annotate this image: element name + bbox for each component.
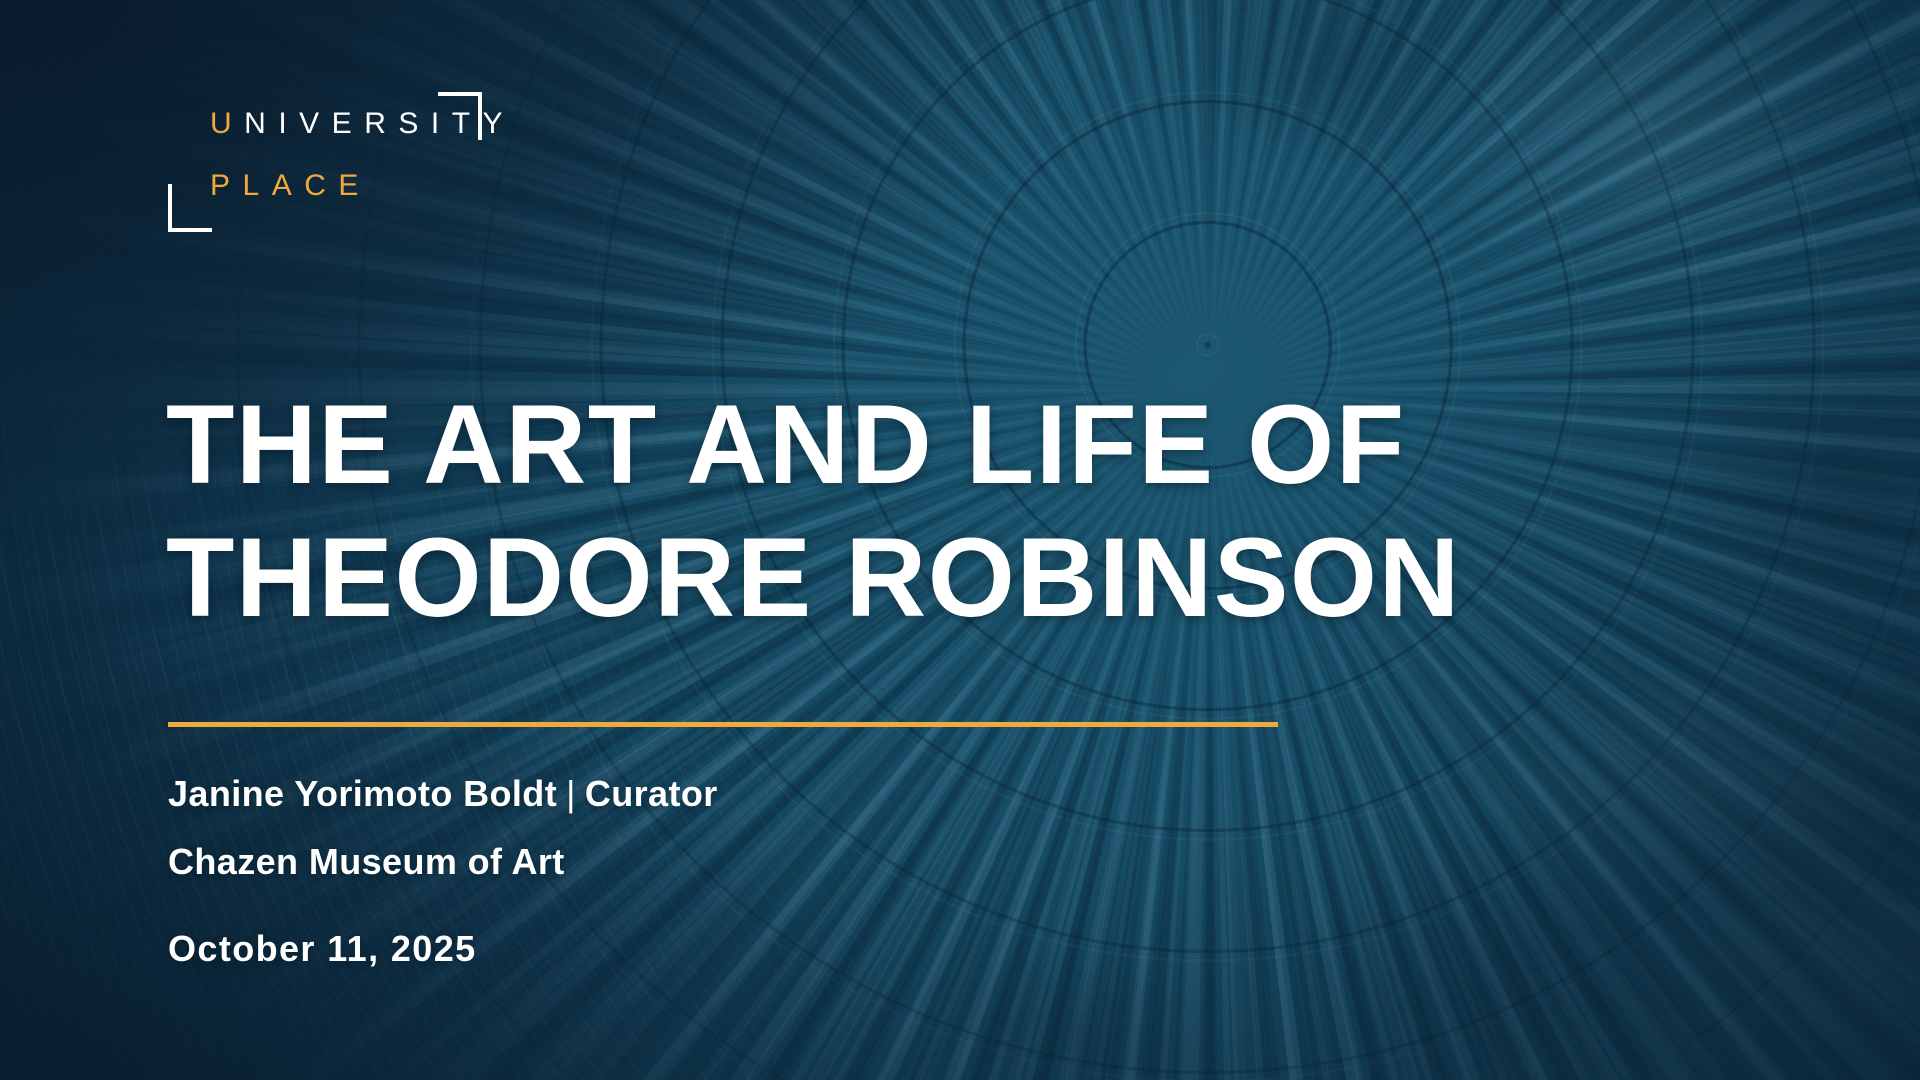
slide-title: THE ART AND LIFE OF THEODORE ROBINSON xyxy=(166,378,1586,644)
title-slide: UNIVERSITY PLACE THE ART AND LIFE OF THE… xyxy=(0,0,1920,1080)
presenter-name: Janine Yorimoto Boldt xyxy=(168,773,557,814)
slide-title-line-2: THEODORE ROBINSON xyxy=(166,511,1586,644)
presenter-role: Curator xyxy=(585,773,718,814)
byline-separator: | xyxy=(557,773,585,814)
slide-content: UNIVERSITY PLACE THE ART AND LIFE OF THE… xyxy=(0,0,1920,1080)
logo-university-rest: NIVERSITY xyxy=(244,107,515,140)
logo-initial-u: U xyxy=(210,107,244,140)
presenter-affiliation: Chazen Museum of Art xyxy=(168,828,718,896)
logo-line-university: UNIVERSITY xyxy=(210,107,515,141)
university-place-logo: UNIVERSITY PLACE xyxy=(168,92,608,232)
presenter-byline: Janine Yorimoto Boldt|Curator Chazen Mus… xyxy=(168,760,718,896)
slide-title-line-1: THE ART AND LIFE OF xyxy=(166,382,1406,507)
event-date: October 11, 2025 xyxy=(168,928,477,970)
logo-line-place: PLACE xyxy=(210,169,371,203)
gold-divider-rule xyxy=(168,722,1278,727)
corner-bracket-bottom-left-icon xyxy=(168,184,212,232)
